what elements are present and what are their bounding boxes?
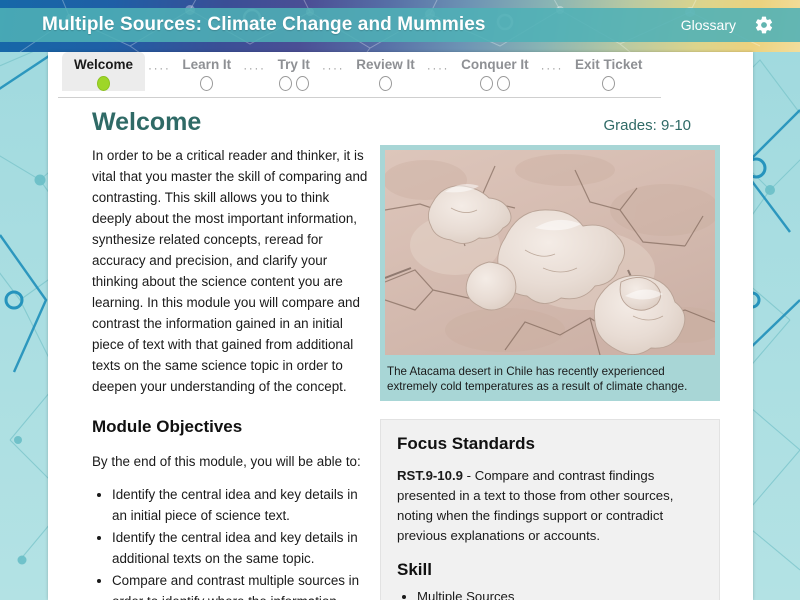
right-column: The Atacama desert in Chile has recently… — [380, 145, 720, 600]
intro-paragraph: In order to be a critical reader and thi… — [92, 145, 368, 397]
tab-label: Exit Ticket — [575, 57, 642, 73]
grade-level-label: Grades: 9-10 — [603, 117, 691, 134]
progress-dot[interactable] — [497, 76, 510, 91]
objectives-intro-text: By the end of this module, you will be a… — [92, 451, 368, 472]
tab-progress-dots — [602, 76, 615, 91]
tab-separator: ···· — [538, 61, 566, 75]
photo-frame — [380, 145, 720, 360]
progress-dot[interactable] — [602, 76, 615, 91]
desert-crust-illustration — [385, 150, 715, 355]
tab-progress-dots — [279, 76, 309, 91]
tab-review-it[interactable]: Review It — [347, 52, 424, 91]
tab-label: Welcome — [74, 57, 133, 73]
list-item: Identify the central idea and key detail… — [112, 484, 368, 526]
progress-dot-complete[interactable] — [97, 76, 110, 91]
skill-list: Multiple Sources — [397, 587, 703, 600]
left-column: In order to be a critical reader and thi… — [92, 145, 368, 600]
module-tabs: Welcome ···· Learn It ···· Try It — [48, 52, 753, 99]
content-body: Welcome Grades: 9-10 In order to be a cr… — [48, 99, 753, 600]
progress-dot[interactable] — [296, 76, 309, 91]
tab-progress-dots — [480, 76, 510, 91]
app-header: Multiple Sources: Climate Change and Mum… — [0, 8, 800, 42]
atacama-desert-photo — [385, 150, 715, 355]
tab-separator: ···· — [319, 61, 347, 75]
glossary-link[interactable]: Glossary — [681, 17, 736, 33]
gear-icon[interactable] — [754, 15, 774, 35]
focus-standards-panel: Focus Standards RST.9-10.9 - Compare and… — [380, 419, 720, 600]
module-title: Multiple Sources: Climate Change and Mum… — [42, 14, 486, 36]
tab-welcome[interactable]: Welcome — [62, 52, 145, 91]
tab-exit-ticket[interactable]: Exit Ticket — [566, 52, 651, 91]
progress-dot[interactable] — [279, 76, 292, 91]
progress-dot[interactable] — [480, 76, 493, 91]
module-objectives-list: Identify the central idea and key detail… — [92, 484, 368, 600]
tab-label: Review It — [356, 57, 415, 73]
tab-label: Conquer It — [461, 57, 529, 73]
content-card: Welcome ···· Learn It ···· Try It — [48, 52, 753, 600]
figure-caption: The Atacama desert in Chile has recently… — [380, 360, 720, 401]
tab-underline — [58, 97, 661, 98]
title-row: Welcome Grades: 9-10 — [92, 107, 735, 137]
tab-separator: ···· — [424, 61, 452, 75]
progress-dot[interactable] — [379, 76, 392, 91]
list-item: Identify the central idea and key detail… — [112, 527, 368, 569]
progress-dot[interactable] — [200, 76, 213, 91]
tab-try-it[interactable]: Try It — [269, 52, 319, 91]
standard-code: RST.9-10.9 — [397, 468, 463, 483]
list-item: Compare and contrast multiple sources in… — [112, 570, 368, 600]
tab-separator: ···· — [240, 61, 268, 75]
tab-separator: ···· — [145, 61, 173, 75]
page-title: Welcome — [92, 107, 201, 137]
tab-progress-dots — [200, 76, 213, 91]
standard-description: RST.9-10.9 - Compare and contrast findin… — [397, 466, 703, 546]
tab-conquer-it[interactable]: Conquer It — [452, 52, 538, 91]
tab-progress-dots — [379, 76, 392, 91]
tab-label: Learn It — [182, 57, 231, 73]
list-item: Multiple Sources — [417, 587, 703, 600]
focus-standards-heading: Focus Standards — [397, 434, 703, 454]
two-column-layout: In order to be a critical reader and thi… — [92, 145, 735, 600]
tab-learn-it[interactable]: Learn It — [173, 52, 240, 91]
app-root: Multiple Sources: Climate Change and Mum… — [0, 0, 800, 600]
module-objectives-heading: Module Objectives — [92, 417, 368, 437]
header-actions: Glossary — [681, 15, 774, 35]
atacama-desert-figure: The Atacama desert in Chile has recently… — [380, 145, 720, 401]
tab-progress-dots — [97, 76, 110, 91]
skill-heading: Skill — [397, 560, 703, 580]
tab-label: Try It — [278, 57, 310, 73]
